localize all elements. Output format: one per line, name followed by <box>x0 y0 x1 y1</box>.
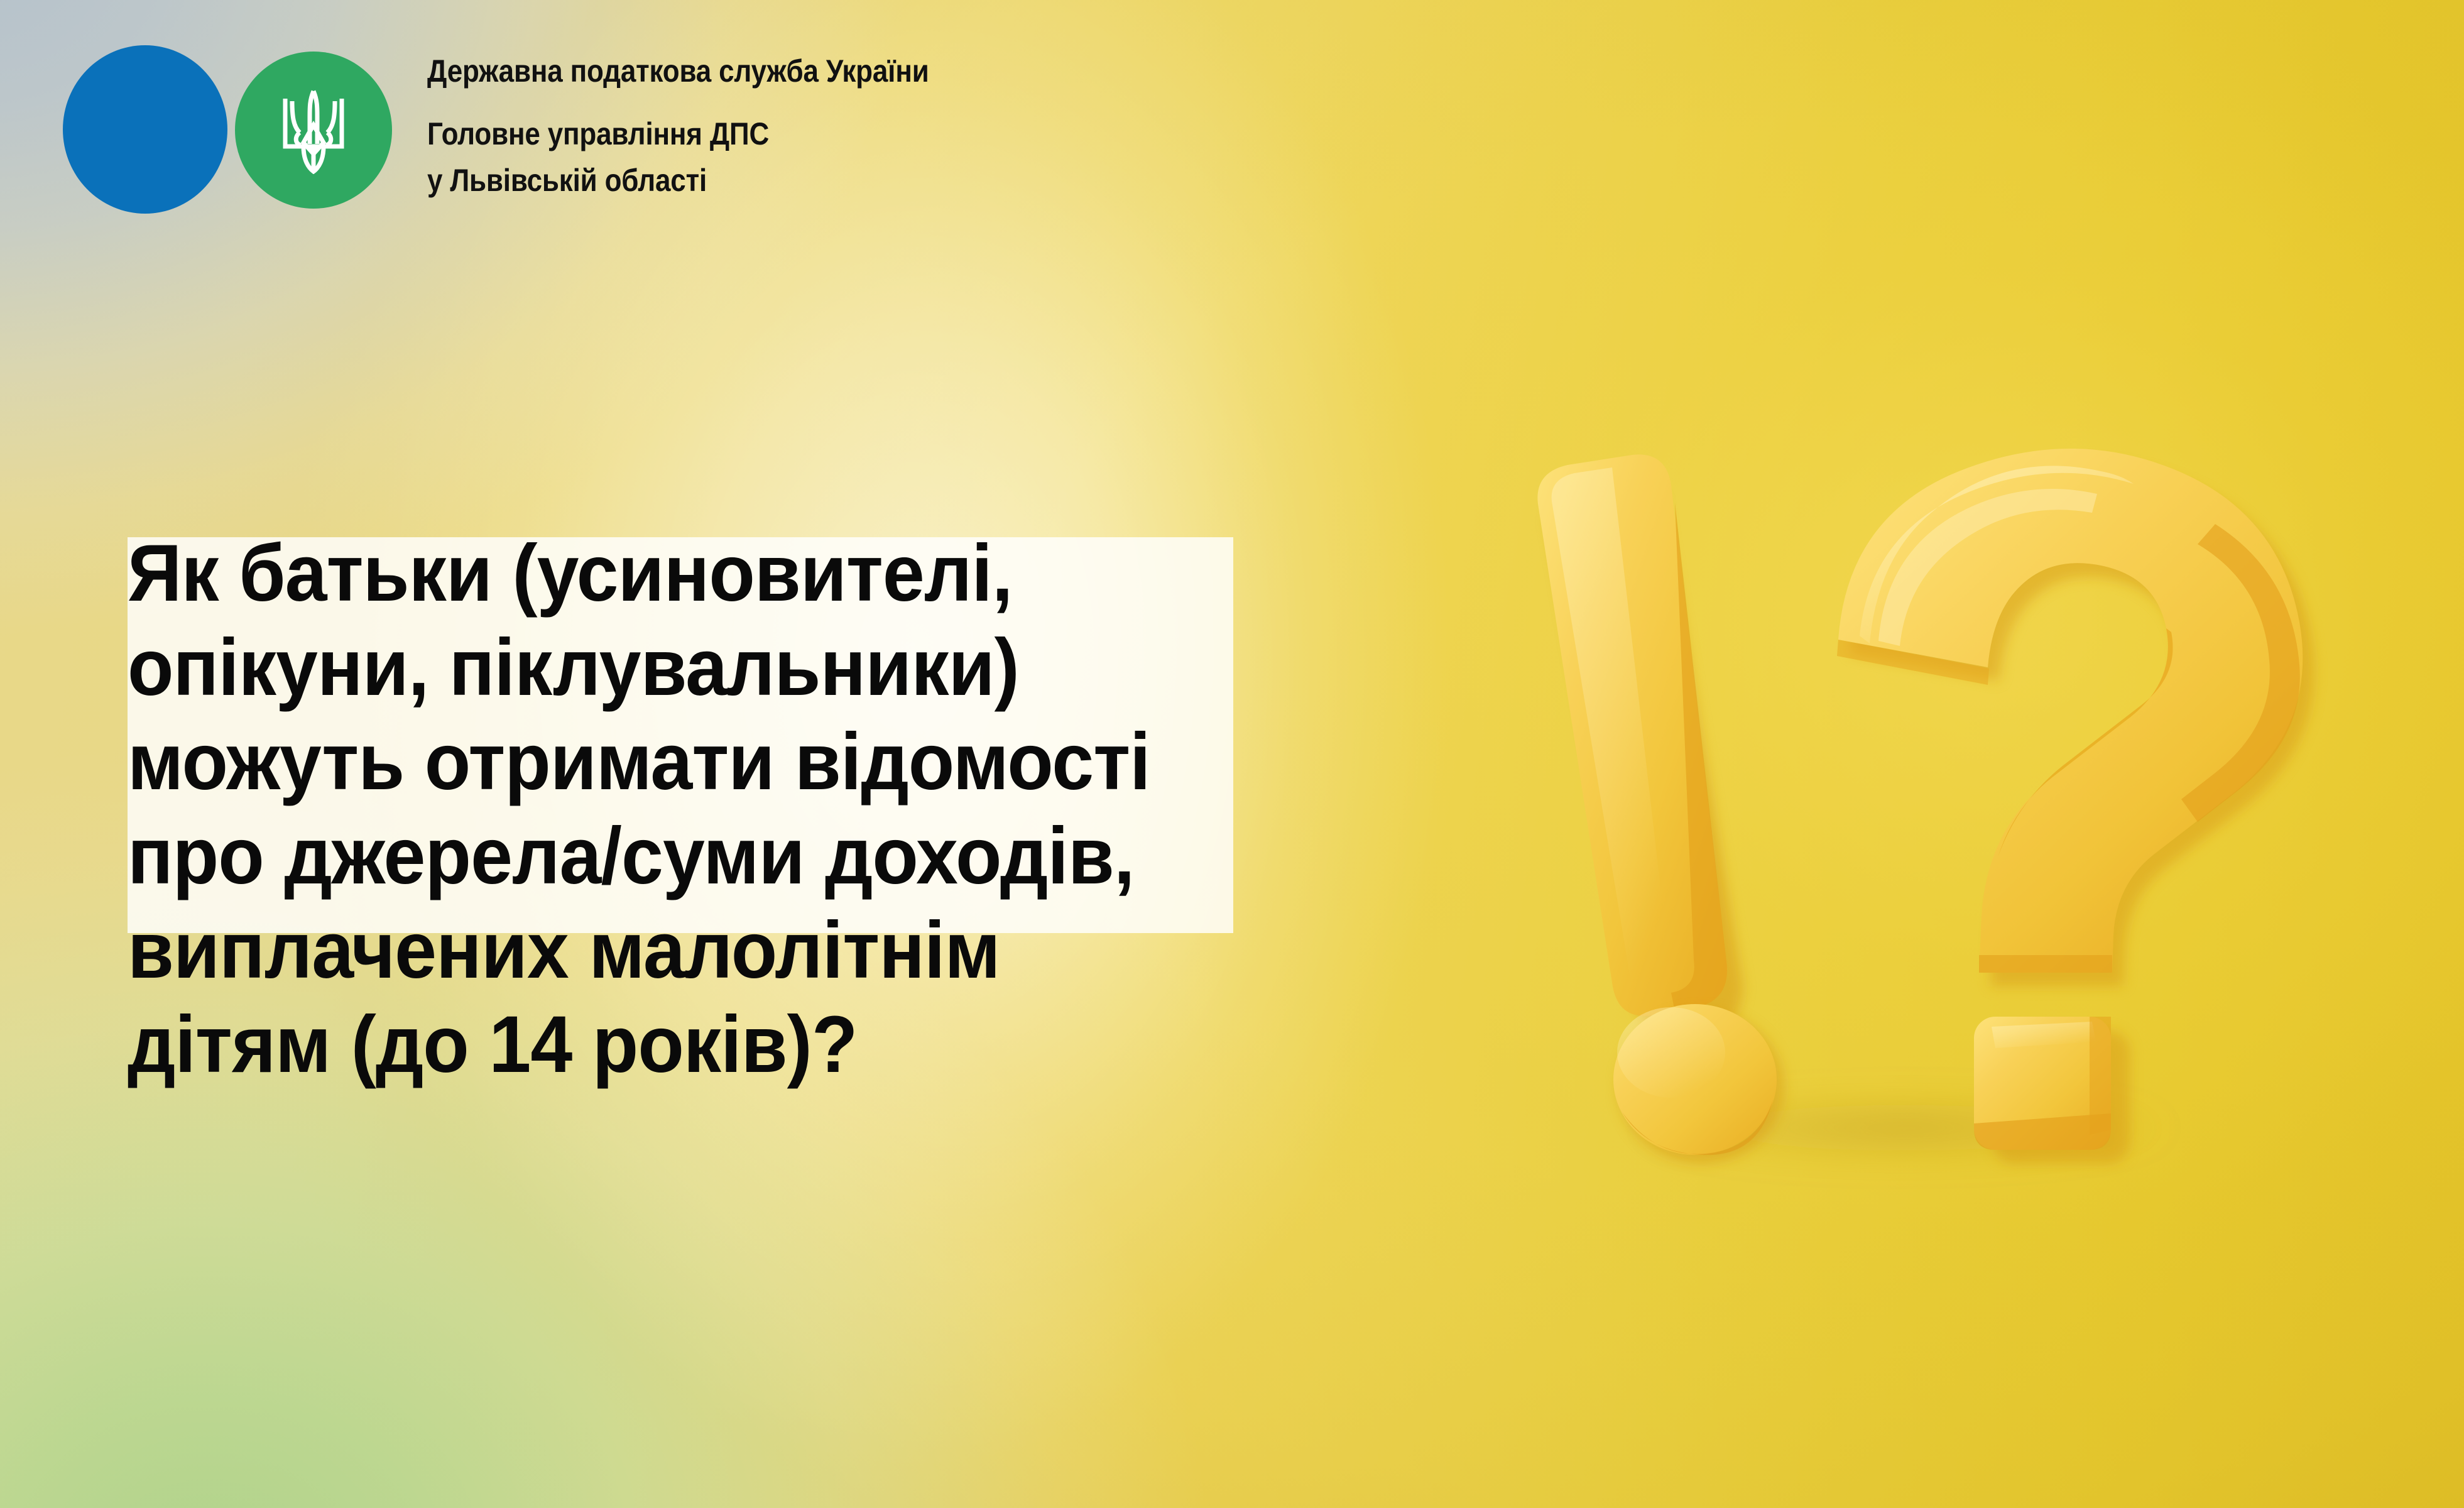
headline-line-3: можуть отримати відомості <box>128 715 1250 809</box>
region-line: у Львівській області <box>427 157 929 204</box>
headline-line-2: опікуни, піклувальники) <box>128 621 1250 715</box>
interrobang-3d-illustration <box>1464 390 2343 1206</box>
blue-circle-icon <box>63 45 227 214</box>
exclamation-mark-3d <box>1537 454 1784 1164</box>
ukraine-trident-icon <box>276 86 351 174</box>
headline-line-4: про джерела/суми доходів, <box>128 809 1250 904</box>
header-text-block: Державна податкова служба України Головн… <box>427 39 998 204</box>
headline-text: Як батьки (усиновителі, опікуни, піклува… <box>128 527 1321 1092</box>
poster-canvas: Державна податкова служба України Головн… <box>0 0 2464 1508</box>
question-mark-3d <box>1837 449 2314 1164</box>
headline-line-1: Як батьки (усиновителі, <box>128 527 1250 621</box>
question-hook <box>1838 449 2303 973</box>
department-line: Головне управління ДПС <box>427 111 929 157</box>
headline-line-5: виплачених малолітнім <box>128 904 1250 998</box>
org-name-line: Державна податкова служба України <box>427 48 929 94</box>
header-branding: Державна податкова служба України Головн… <box>52 39 998 209</box>
headline-block: Як батьки (усиновителі, опікуни, піклува… <box>128 527 1321 1092</box>
green-circle-icon <box>235 52 392 209</box>
dps-logo[interactable] <box>52 39 372 209</box>
headline-line-6: дітям (до 14 років)? <box>128 998 1250 1092</box>
